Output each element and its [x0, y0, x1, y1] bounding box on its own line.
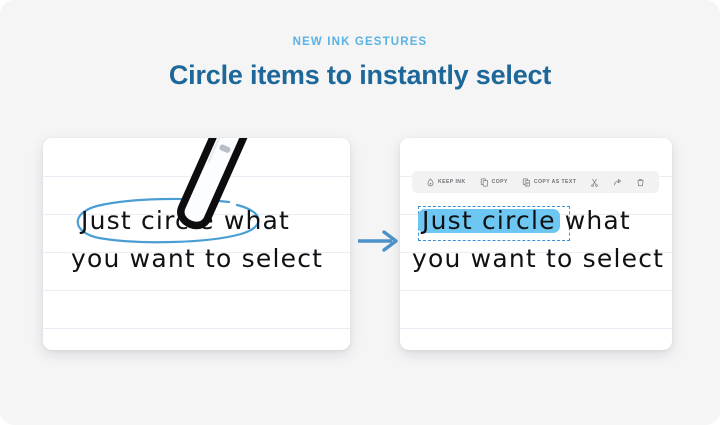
copy-icon	[480, 178, 489, 187]
copy-as-text-button[interactable]: COPY AS TEXT	[515, 173, 583, 191]
keep-ink-label: KEEP INK	[438, 179, 466, 185]
note-card-after: KEEP INK COPY COPY AS TEXT	[400, 138, 672, 350]
cut-button[interactable]	[583, 173, 606, 191]
share-button[interactable]	[606, 173, 629, 191]
trash-icon	[636, 178, 645, 187]
ink-selection-toolbar[interactable]: KEEP INK COPY COPY AS TEXT	[412, 171, 659, 193]
transition-arrow-icon	[358, 228, 402, 254]
scissors-icon	[590, 178, 599, 187]
copy-label: COPY	[492, 179, 508, 185]
keep-ink-button[interactable]: KEEP INK	[419, 173, 473, 191]
note-card-before: Just circle what you want to select	[43, 138, 350, 350]
copy-text-icon	[522, 178, 531, 187]
page-title: Circle items to instantly select	[0, 60, 720, 91]
ink-drop-icon	[426, 178, 435, 187]
copy-as-text-label: COPY AS TEXT	[534, 179, 576, 185]
promo-page: NEW INK GESTURES Circle items to instant…	[0, 0, 720, 425]
share-icon	[613, 178, 622, 187]
handwriting-line-1: Just circle what	[81, 206, 290, 235]
handwriting-line-2-after: you want to select	[412, 244, 664, 273]
unselected-ink-words: what	[556, 206, 631, 235]
selected-ink-words[interactable]: Just circle	[422, 206, 556, 235]
eyebrow-label: NEW INK GESTURES	[0, 36, 720, 48]
handwriting-line-1-selected: Just circlewhat	[422, 206, 631, 235]
handwriting-line-2: you want to select	[71, 244, 323, 273]
delete-button[interactable]	[629, 173, 652, 191]
copy-button[interactable]: COPY	[473, 173, 515, 191]
